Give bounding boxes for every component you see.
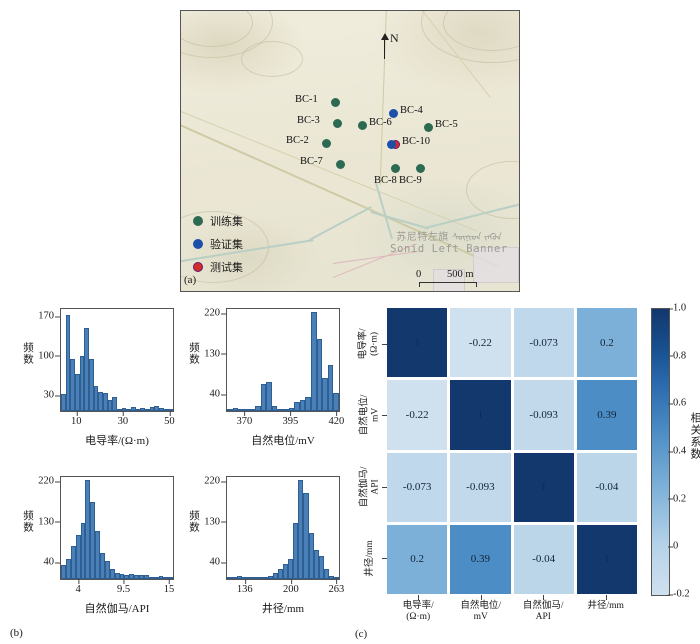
x-tick-mark [290, 411, 291, 416]
y-tick-label: 220 [24, 476, 54, 487]
legend-item-test: 测试集 [193, 255, 243, 278]
map-scalebar: 0 500 m [419, 269, 477, 287]
colorbar-tick-label: 0.4 [673, 446, 686, 457]
x-tick-label: 15 [164, 584, 175, 595]
well-label-bc-1: BC-1 [295, 94, 318, 105]
heatmap-cell: -0.073 [387, 453, 447, 522]
x-tick-mark [336, 579, 337, 584]
histogram-gamma: 4013022049.515频数自然伽马/API [22, 468, 182, 618]
y-tick-mark [55, 395, 60, 396]
colorbar-tick-mark [668, 546, 673, 547]
well-marker-bc-2 [322, 139, 331, 148]
heatmap-cell: -0.073 [514, 308, 574, 377]
heatmap-cell: 0.39 [450, 525, 510, 594]
heatmap-cell: 0.2 [577, 308, 637, 377]
y-axis-title: 频数 [20, 342, 35, 365]
well-label-bc-3: BC-3 [297, 115, 320, 126]
colorbar-tick-mark [668, 451, 673, 452]
colorbar-tick-label: 0 [673, 541, 678, 552]
x-tick-mark [245, 579, 246, 584]
heatmap-cell: 1 [450, 380, 510, 449]
x-tick-label: 136 [237, 584, 253, 595]
y-axis-title: 频数 [20, 510, 35, 533]
correlation-matrix: 1-0.22-0.0730.2-0.221-0.0930.39-0.073-0.… [387, 308, 637, 594]
y-tick-mark [221, 394, 226, 395]
x-tick-label: 370 [237, 416, 253, 427]
panel-c-tag: (c) [355, 628, 367, 640]
place-name: 苏尼特左旗 ᠰᠥᠨᠢᠳ ᠵᠡᠭᠦᠨ Sonid Left Banner [381, 227, 517, 255]
heatmap-y-tick [382, 344, 387, 345]
legend-label-validation: 验证集 [210, 236, 243, 252]
y-tick-mark [221, 481, 226, 482]
y-tick-mark [55, 562, 60, 563]
panel-b-histograms: 30100170103050频数电导率/(Ω·m) 40130220370395… [8, 300, 353, 644]
legend-dot-validation [193, 239, 203, 249]
heatmap-cell: -0.22 [387, 380, 447, 449]
contour-line [241, 41, 303, 77]
legend-item-validation: 验证集 [193, 232, 243, 255]
heatmap-y-label-text: 自然伽马/API [359, 466, 381, 507]
well-marker-bc-7 [336, 160, 345, 169]
x-axis-title: 自然电位/mV [226, 432, 340, 448]
heatmap-y-label: 自然电位/mV [355, 380, 385, 452]
x-tick-label: 263 [329, 584, 345, 595]
colorbar-tick-mark [668, 403, 673, 404]
legend-dot-training [193, 216, 203, 226]
well-marker-bc-1 [331, 98, 340, 107]
colorbar-tick-mark [668, 594, 673, 595]
well-marker-bc-3 [333, 119, 342, 128]
heatmap-cell: -0.22 [450, 308, 510, 377]
y-tick-mark [55, 522, 60, 523]
y-tick-label: 40 [190, 557, 220, 568]
x-tick-mark [123, 411, 124, 416]
well-marker-bc-6 [358, 121, 367, 130]
heatmap-cell: 0.2 [387, 525, 447, 594]
well-marker-bc-5 [424, 123, 433, 132]
legend-label-test: 测试集 [210, 259, 243, 275]
x-tick-mark [291, 579, 292, 584]
bar-series [61, 477, 173, 579]
scalebar-distance: 500 m [447, 269, 474, 280]
y-tick-mark [221, 354, 226, 355]
heatmap-y-label-text: 井径/mm [365, 540, 376, 576]
well-label-bc-5: BC-5 [435, 119, 458, 130]
well-label-bc-2: BC-2 [286, 135, 309, 146]
colorbar-tick-mark [668, 499, 673, 500]
heatmap-cell: -0.04 [577, 453, 637, 522]
colorbar-tick-label: -0.2 [673, 589, 690, 600]
heatmap-x-tick [606, 595, 607, 600]
histogram-bar [333, 393, 339, 411]
north-label: N [390, 31, 399, 46]
x-axis-title: 井径/mm [226, 600, 340, 616]
x-tick-label: 4 [76, 584, 81, 595]
heatmap-x-label: 自然伽马/API [512, 601, 575, 624]
y-axis-title: 频数 [186, 342, 201, 365]
x-tick-mark [124, 579, 125, 584]
legend-label-training: 训练集 [210, 213, 243, 229]
heatmap-y-label-text: 自然电位/mV [359, 395, 381, 436]
heatmap-x-label: 自然电位/mV [450, 601, 513, 624]
x-tick-label: 395 [282, 416, 298, 427]
panel-a-tag: (a) [184, 274, 196, 286]
x-tick-label: 9.5 [117, 584, 130, 595]
x-tick-label: 420 [328, 416, 344, 427]
colorbar-tick-label: 0.6 [673, 398, 686, 409]
x-tick-mark [76, 411, 77, 416]
x-tick-label: 10 [71, 416, 82, 427]
plot-area [226, 476, 340, 580]
x-tick-mark [169, 579, 170, 584]
bar-series [227, 477, 339, 579]
heatmap-x-label: 井径/mm [575, 601, 638, 612]
place-name-chinese: 苏尼特左旗 ᠰᠥᠨᠢᠳ ᠵᠡᠭᠦᠨ [381, 227, 517, 243]
scalebar-zero: 0 [416, 269, 421, 280]
bar-series [61, 309, 173, 411]
legend-item-training: 训练集 [193, 209, 243, 232]
map-legend: 训练集 验证集 测试集 [193, 209, 243, 278]
colorbar-tick-label: 1.0 [673, 303, 686, 314]
x-tick-mark [169, 411, 170, 416]
histogram-caliper: 40130220136200263频数井径/mm [188, 468, 348, 618]
heatmap-x-tick [543, 595, 544, 600]
plot-area [60, 308, 174, 412]
heatmap-y-tick [382, 487, 387, 488]
heatmap-cell: 0.39 [577, 380, 637, 449]
y-tick-mark [55, 481, 60, 482]
y-tick-label: 30 [24, 390, 54, 401]
x-tick-mark [336, 411, 337, 416]
y-tick-label: 40 [24, 557, 54, 568]
y-tick-label: 220 [190, 308, 220, 319]
bar-series [227, 309, 339, 411]
heatmap-y-label: 自然伽马/API [355, 451, 385, 523]
well-label-bc-6: BC-6 [369, 117, 392, 128]
y-tick-label: 40 [190, 389, 220, 400]
heatmap-cell: -0.093 [450, 453, 510, 522]
x-tick-mark [78, 579, 79, 584]
well-label-bc-10: BC-10 [402, 136, 430, 147]
well-label-bc-7: BC-7 [300, 156, 323, 167]
y-tick-mark [221, 562, 226, 563]
heatmap-y-label: 井径/mm [355, 523, 385, 595]
scalebar-bar [419, 282, 477, 287]
heatmap-cell: 1 [387, 308, 447, 377]
heatmap-y-tick [382, 558, 387, 559]
x-tick-label: 30 [118, 416, 129, 427]
y-tick-mark [221, 313, 226, 314]
north-arrow: N [377, 33, 417, 61]
x-tick-mark [244, 411, 245, 416]
heatmap-cell: -0.04 [514, 525, 574, 594]
heatmap-y-label: 电导率/(Ω·m) [355, 308, 385, 380]
y-tick-mark [55, 356, 60, 357]
colorbar-tick-mark [668, 356, 673, 357]
heatmap-cell: -0.093 [514, 380, 574, 449]
x-tick-label: 50 [164, 416, 175, 427]
legend-dot-test [193, 262, 203, 272]
well-label-bc-8: BC-8 [374, 175, 397, 186]
heatmap-x-tick [418, 595, 419, 600]
heatmap-y-label-text: 电导率/(Ω·m) [359, 328, 381, 359]
plot-area [60, 476, 174, 580]
y-tick-label: 220 [190, 476, 220, 487]
well-marker-bc-9 [416, 164, 425, 173]
north-arrow-shaft [384, 37, 385, 59]
well-label-bc-4: BC-4 [400, 105, 423, 116]
colorbar-tick-label: 0.2 [673, 493, 686, 504]
place-name-mongolian: ᠰᠥᠨᠢᠳ ᠵᠡᠭᠦᠨ [452, 233, 501, 243]
x-axis-title: 电导率/(Ω·m) [60, 432, 174, 448]
colorbar [651, 308, 670, 596]
colorbar-tick-label: 0.8 [673, 350, 686, 361]
plot-area [226, 308, 340, 412]
y-axis-title: 频数 [186, 510, 201, 533]
histogram-conductivity: 30100170103050频数电导率/(Ω·m) [22, 300, 182, 450]
heatmap-y-tick [382, 415, 387, 416]
map-canvas: N BC-1BC-2BC-3BC-4BC-5BC-6BC-7BC-8BC-9BC… [180, 10, 520, 292]
well-label-bc-9: BC-9 [399, 175, 422, 186]
x-tick-label: 200 [283, 584, 299, 595]
place-name-english: Sonid Left Banner [381, 243, 517, 255]
x-axis-title: 自然伽马/API [60, 600, 174, 616]
heatmap-cell: 1 [577, 525, 637, 594]
heatmap-x-tick [481, 595, 482, 600]
well-marker-bc-6b [387, 140, 396, 149]
y-tick-label: 170 [24, 311, 54, 322]
panel-c-heatmap: 1-0.22-0.0730.2-0.221-0.0930.39-0.073-0.… [355, 300, 700, 644]
heatmap-cell: 1 [514, 453, 574, 522]
y-tick-mark [55, 316, 60, 317]
y-tick-mark [221, 522, 226, 523]
heatmap-x-label: 电导率/(Ω·m) [387, 601, 450, 624]
well-marker-bc-8 [391, 164, 400, 173]
colorbar-tick-mark [668, 308, 673, 309]
panel-b-tag: (b) [10, 627, 23, 639]
histogram-sp: 40130220370395420频数自然电位/mV [188, 300, 348, 450]
colorbar-title: 相关系数 [687, 412, 700, 460]
panel-a-map: N BC-1BC-2BC-3BC-4BC-5BC-6BC-7BC-8BC-9BC… [180, 10, 520, 292]
